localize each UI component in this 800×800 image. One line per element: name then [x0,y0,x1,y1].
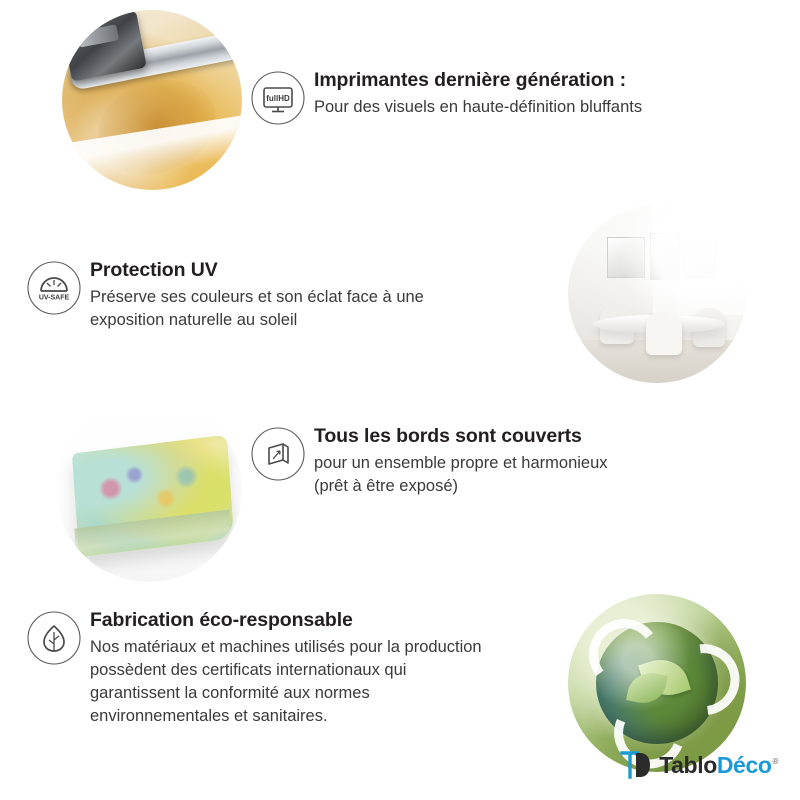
brand-wordmark: TabloDéco® [659,752,778,779]
canvas-corner-photo [56,396,242,582]
brand-name-accent: Déco [717,752,772,778]
feature-eco-manufacturing: Fabrication éco-responsable Nos matériau… [26,608,586,727]
feature-title: Protection UV [90,258,424,282]
brand-name-primary: Tablo [659,752,717,778]
brand-logo: TabloDéco® [618,748,778,782]
feature-description: Pour des visuels en haute-définition blu… [314,96,642,119]
feature-description: pour un ensemble propre et harmonieux (p… [314,452,608,498]
photo-detail [621,205,746,326]
uv-safe-icon: UV-SAFE [26,260,82,316]
feature-covered-edges: Tous les bords sont couverts pour un ens… [250,424,750,498]
eco-earth-photo [568,594,746,772]
eco-leaf-icon [26,610,82,666]
feature-description: Préserve ses couleurs et son éclat face … [90,286,424,332]
feature-uv-protection: UV-SAFE Protection UV Préserve ses coule… [26,258,546,332]
svg-text:fullHD: fullHD [266,94,290,103]
brand-trademark: ® [773,757,779,766]
tablodeco-monogram-icon [618,748,652,782]
feature-title: Imprimantes dernière génération : [314,68,642,92]
svg-text:UV-SAFE: UV-SAFE [39,295,70,302]
feature-text: Protection UV Préserve ses couleurs et s… [82,258,424,332]
feature-printers: fullHD Imprimantes dernière génération :… [250,68,770,126]
living-room-photo [568,205,746,383]
feature-description: Nos matériaux et machines utilisés pour … [90,636,482,727]
feature-text: Imprimantes dernière génération : Pour d… [306,68,642,119]
wrapped-edges-icon [250,426,306,482]
infographic-page: fullHD Imprimantes dernière génération :… [0,0,800,800]
fullhd-monitor-icon: fullHD [250,70,306,126]
feature-title: Fabrication éco-responsable [90,608,482,632]
printer-head-photo [62,10,242,190]
feature-title: Tous les bords sont couverts [314,424,608,448]
feature-text: Fabrication éco-responsable Nos matériau… [82,608,482,727]
feature-text: Tous les bords sont couverts pour un ens… [306,424,608,498]
